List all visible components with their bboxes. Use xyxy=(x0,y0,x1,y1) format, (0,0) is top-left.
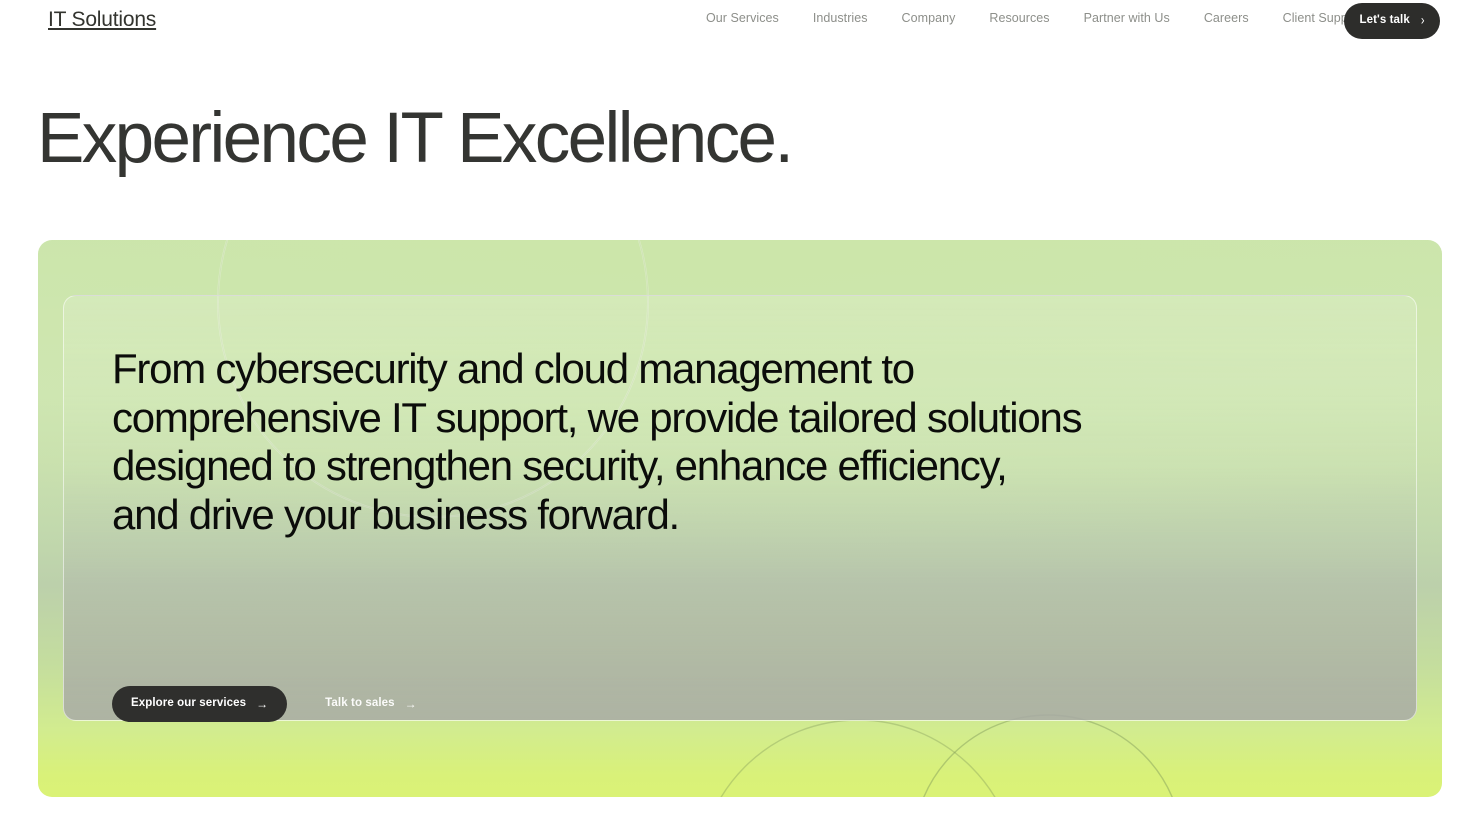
nav-item-careers[interactable]: Careers xyxy=(1204,12,1249,25)
nav-item-our-services[interactable]: Our Services xyxy=(706,12,779,25)
nav-item-partner-with-us[interactable]: Partner with Us xyxy=(1084,12,1170,25)
hero-paragraph: From cybersecurity and cloud management … xyxy=(112,345,1082,539)
lets-talk-button[interactable]: Let's talk › xyxy=(1344,3,1440,39)
nav-item-company[interactable]: Company xyxy=(902,12,956,25)
explore-our-services-label: Explore our services xyxy=(131,698,246,710)
talk-to-sales-label: Talk to sales xyxy=(325,698,394,710)
site-header: IT Solutions Our Services Industries Com… xyxy=(0,0,1480,42)
nav-item-industries[interactable]: Industries xyxy=(813,12,868,25)
hero-panel: From cybersecurity and cloud management … xyxy=(63,295,1417,721)
page-title: Experience IT Excellence. xyxy=(37,100,792,178)
arrow-right-icon: → xyxy=(405,698,417,710)
explore-our-services-button[interactable]: Explore our services → xyxy=(112,686,287,722)
talk-to-sales-button[interactable]: Talk to sales → xyxy=(317,686,424,722)
hero-actions: Explore our services → Talk to sales → xyxy=(112,686,425,722)
primary-nav: Our Services Industries Company Resource… xyxy=(706,12,1363,25)
lets-talk-label: Let's talk xyxy=(1359,15,1409,27)
arrow-right-icon: → xyxy=(256,698,268,710)
brand-logo[interactable]: IT Solutions xyxy=(48,9,156,30)
hero-card: From cybersecurity and cloud management … xyxy=(38,240,1442,797)
chevron-right-icon: › xyxy=(1421,14,1425,28)
nav-item-resources[interactable]: Resources xyxy=(989,12,1049,25)
